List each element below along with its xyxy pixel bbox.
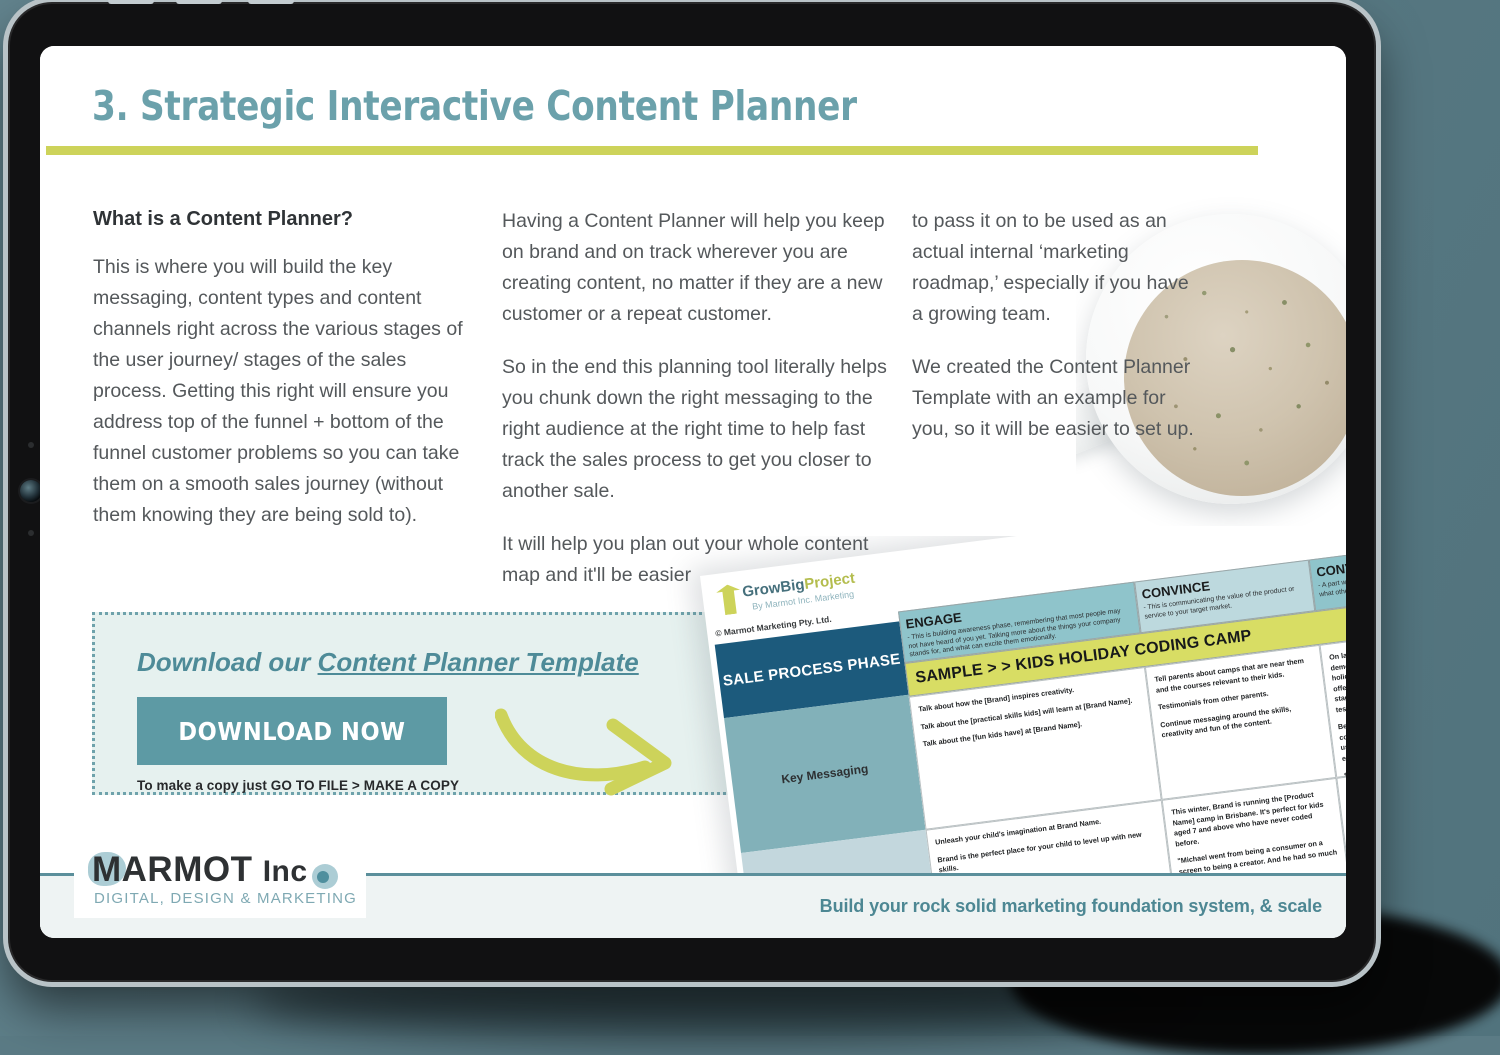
download-now-button[interactable]: DOWNLOAD NOW <box>137 697 447 765</box>
engage-description: - This is building awareness phase, reme… <box>907 606 1134 660</box>
convert-description: - A part wherein you will get into your … <box>1318 563 1346 600</box>
column1-heading: What is a Content Planner? <box>93 206 475 232</box>
text-column-3: to pass it on to be used as an actual in… <box>912 206 1198 467</box>
cta-heading-prefix: Download our <box>137 647 318 677</box>
sample-band: SAMPLE > > KIDS HOLIDAY CODING CAMP <box>905 590 1346 697</box>
marmot-logo: MARMOT Inc DIGITAL, DESIGN & MARKETING <box>74 840 366 918</box>
slide-canvas: 3. Strategic Interactive Content Planner… <box>40 46 1346 938</box>
front-camera-icon <box>20 480 42 502</box>
logo-dot-icon <box>317 871 329 883</box>
cta-heading: Download our Content Planner Template <box>137 647 639 678</box>
cell-line: Unleash your child's imagination at Bran… <box>935 810 1157 848</box>
cell-line: Continue messaging around the skills, cr… <box>1160 700 1321 741</box>
column3-paragraph-1: to pass it on to be used as an actual in… <box>912 206 1198 330</box>
download-cta-box: Download our Content Planner Template DO… <box>92 612 757 795</box>
column3-paragraph-2: We created the Content Planner Template … <box>912 352 1198 445</box>
logo-tagline: DIGITAL, DESIGN & MARKETING <box>94 890 357 907</box>
power-button[interactable] <box>248 0 294 4</box>
column2-paragraph-1: Having a Content Planner will help you k… <box>502 206 892 330</box>
volume-down-button[interactable] <box>176 0 222 4</box>
cta-copy-note: To make a copy just GO TO FILE > MAKE A … <box>137 778 459 793</box>
column-header-convince: CONVINCE - This is communicating the val… <box>1134 560 1315 634</box>
engage-label: ENGAGE <box>905 610 963 632</box>
cell-line: Talk about the [practical skills kids] w… <box>920 694 1142 732</box>
cell-line: Tell parents about camps that are near t… <box>1154 655 1315 696</box>
title-underline-rule <box>46 146 1258 155</box>
tablet-device: 3. Strategic Interactive Content Planner… <box>8 2 1376 982</box>
text-column-2: Having a Content Planner will help you k… <box>502 206 892 613</box>
cell-line: Be specific about the access to the bran… <box>1337 703 1346 764</box>
volume-up-button[interactable] <box>108 0 154 4</box>
cell-line: Talk about the [fun kids have] at [Brand… <box>922 712 1144 750</box>
logo-suffix: Inc <box>263 855 308 888</box>
page-title: 3. Strategic Interactive Content Planner <box>92 82 857 130</box>
logo-name: MARMOT <box>92 850 252 889</box>
column2-paragraph-3: It will help you plan out your whole con… <box>502 529 892 591</box>
cell-line: This winter, Brand is running the [Produ… <box>1171 788 1335 850</box>
cell-line: Specific price-based offers for the tick… <box>1343 752 1346 782</box>
cell-engage-key-messaging: Talk about how the [Brand] inspires crea… <box>909 667 1162 830</box>
convince-description: - This is communicating the value of the… <box>1143 584 1308 621</box>
footer-tagline: Build your rock solid marketing foundati… <box>820 896 1322 917</box>
cell-line: Testimonials from other parents. <box>1157 683 1317 713</box>
cell-line: Brand is the perfect place for your chil… <box>937 827 1160 876</box>
microphone-hole-icon <box>28 442 34 448</box>
curved-arrow-icon <box>495 707 685 797</box>
convert-label: CONVERT <box>1315 557 1346 580</box>
convince-label: CONVINCE <box>1141 578 1211 601</box>
cta-heading-link[interactable]: Content Planner Template <box>318 647 639 677</box>
logo-wordmark: MARMOT Inc <box>92 850 308 890</box>
column2-paragraph-2: So in the end this planning tool literal… <box>502 352 892 507</box>
cell-convert-key-messaging: On landing and checkout pages, demonstra… <box>1320 624 1346 778</box>
text-column-1: What is a Content Planner? This is where… <box>93 206 475 553</box>
cell-line: Talk about how the [Brand] inspires crea… <box>918 677 1140 715</box>
column-header-engage: ENGAGE - This is building awareness phas… <box>898 582 1141 663</box>
column1-paragraph-1: This is where you will build the key mes… <box>93 252 475 531</box>
cell-convince-key-messaging: Tell parents about camps that are near t… <box>1145 645 1336 800</box>
cell-line: On landing and checkout pages, demonstra… <box>1329 634 1346 716</box>
tablet-screen: 3. Strategic Interactive Content Planner… <box>40 46 1346 938</box>
sensor-hole-icon <box>28 530 34 536</box>
cell-line: Each camper will receive: <box>1345 766 1346 796</box>
column-header-convert: CONVERT - A part wherein you will get in… <box>1309 538 1346 611</box>
